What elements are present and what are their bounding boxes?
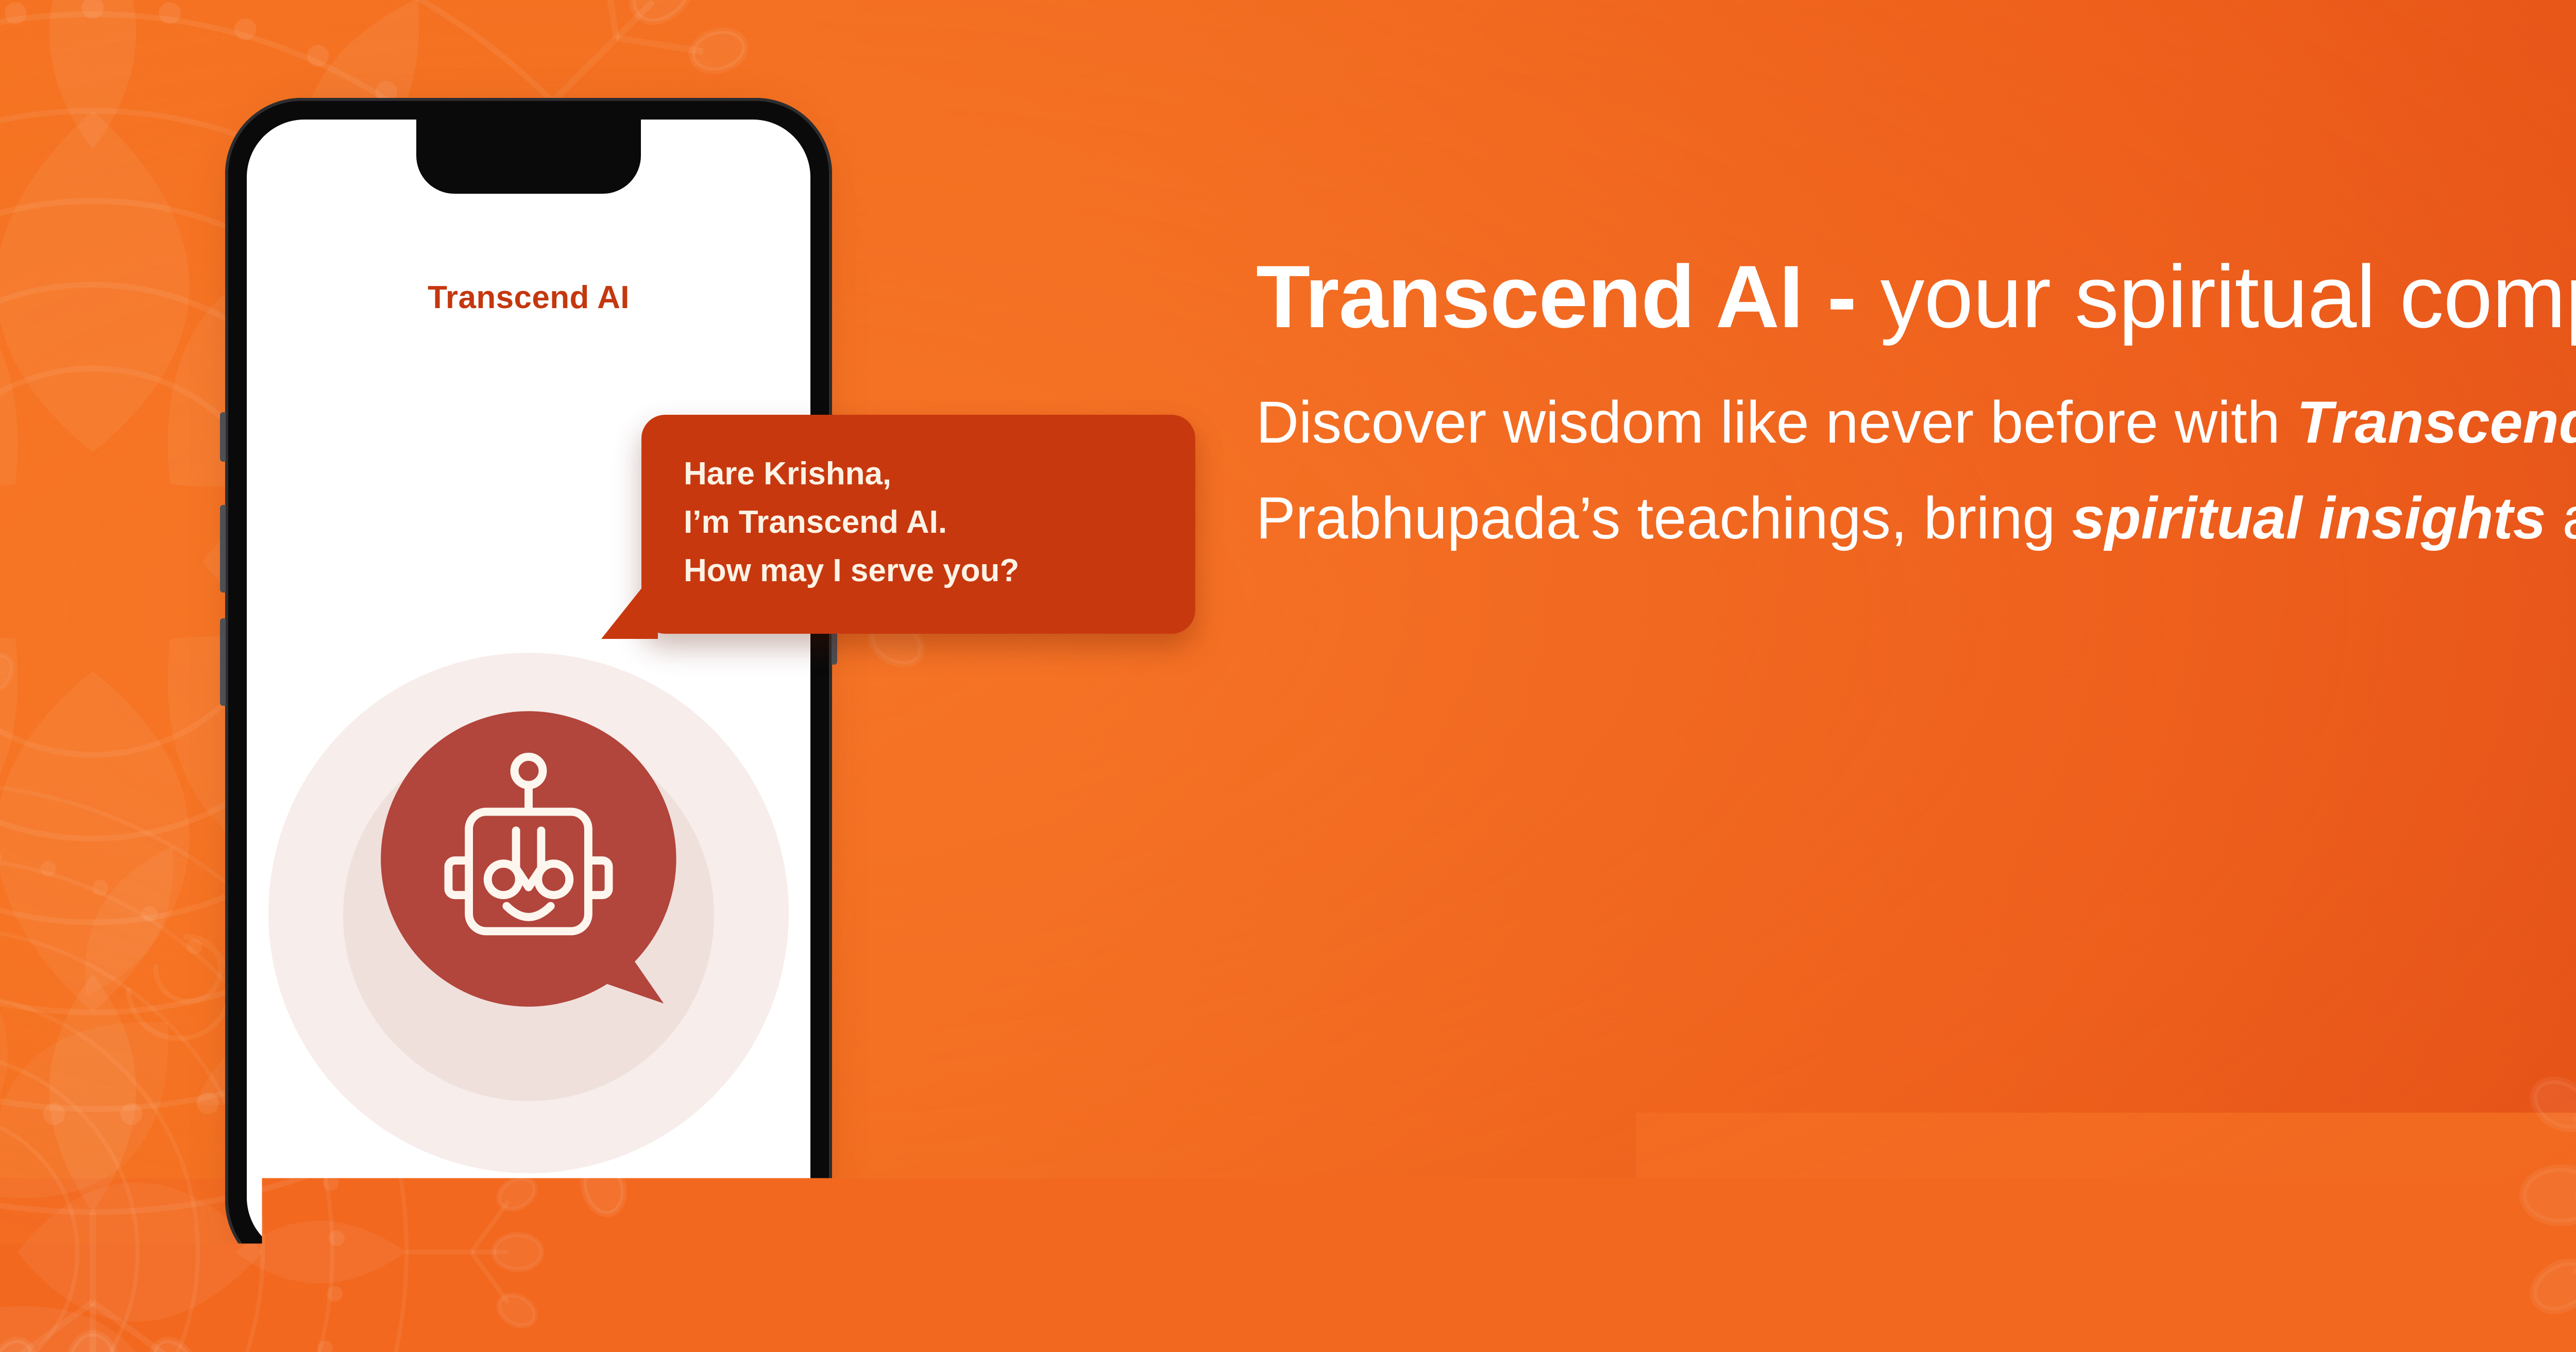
phone-volume-down-button[interactable] <box>220 618 226 706</box>
phone-mockup: Transcend AI <box>225 98 832 1277</box>
phone-screen: Transcend AI <box>247 120 810 1255</box>
phone-notch <box>416 120 641 194</box>
chat-message-line: I’m Transcend AI. <box>684 498 1159 547</box>
cta-row: Know More <box>1256 951 2576 1102</box>
body-copy: Discover wisdom like never before with T… <box>1256 375 2576 567</box>
chat-bubble: Hare Krishna, I’m Transcend AI. How may … <box>641 415 1195 634</box>
body-part-1: Discover wisdom like never before with <box>1256 390 2297 455</box>
headline-brand: Transcend AI - <box>1256 247 1856 346</box>
chat-message-line: Hare Krishna, <box>684 450 1159 498</box>
phone-volume-up-button[interactable] <box>220 505 226 593</box>
body-part-3: at your fingertips <box>2546 485 2576 551</box>
robot-chat-icon <box>371 702 686 1016</box>
body-emphasis-insights: spiritual insights <box>2072 485 2546 551</box>
chat-bubble-tail <box>601 568 658 639</box>
app-title: Transcend AI <box>247 279 810 316</box>
copy-block: Transcend AI - your spiritual companion … <box>1256 247 2576 566</box>
chat-message-line: How may I serve you? <box>684 547 1159 595</box>
phone-body: Transcend AI <box>225 98 832 1277</box>
body-emphasis-brand: Transcend AI <box>2297 390 2576 455</box>
promo-banner: Transcend AI <box>0 0 2576 1352</box>
phone-mute-switch[interactable] <box>220 412 226 462</box>
headline-tagline: your spiritual companion <box>1856 247 2576 346</box>
headline: Transcend AI - your spiritual companion <box>1256 247 2576 347</box>
